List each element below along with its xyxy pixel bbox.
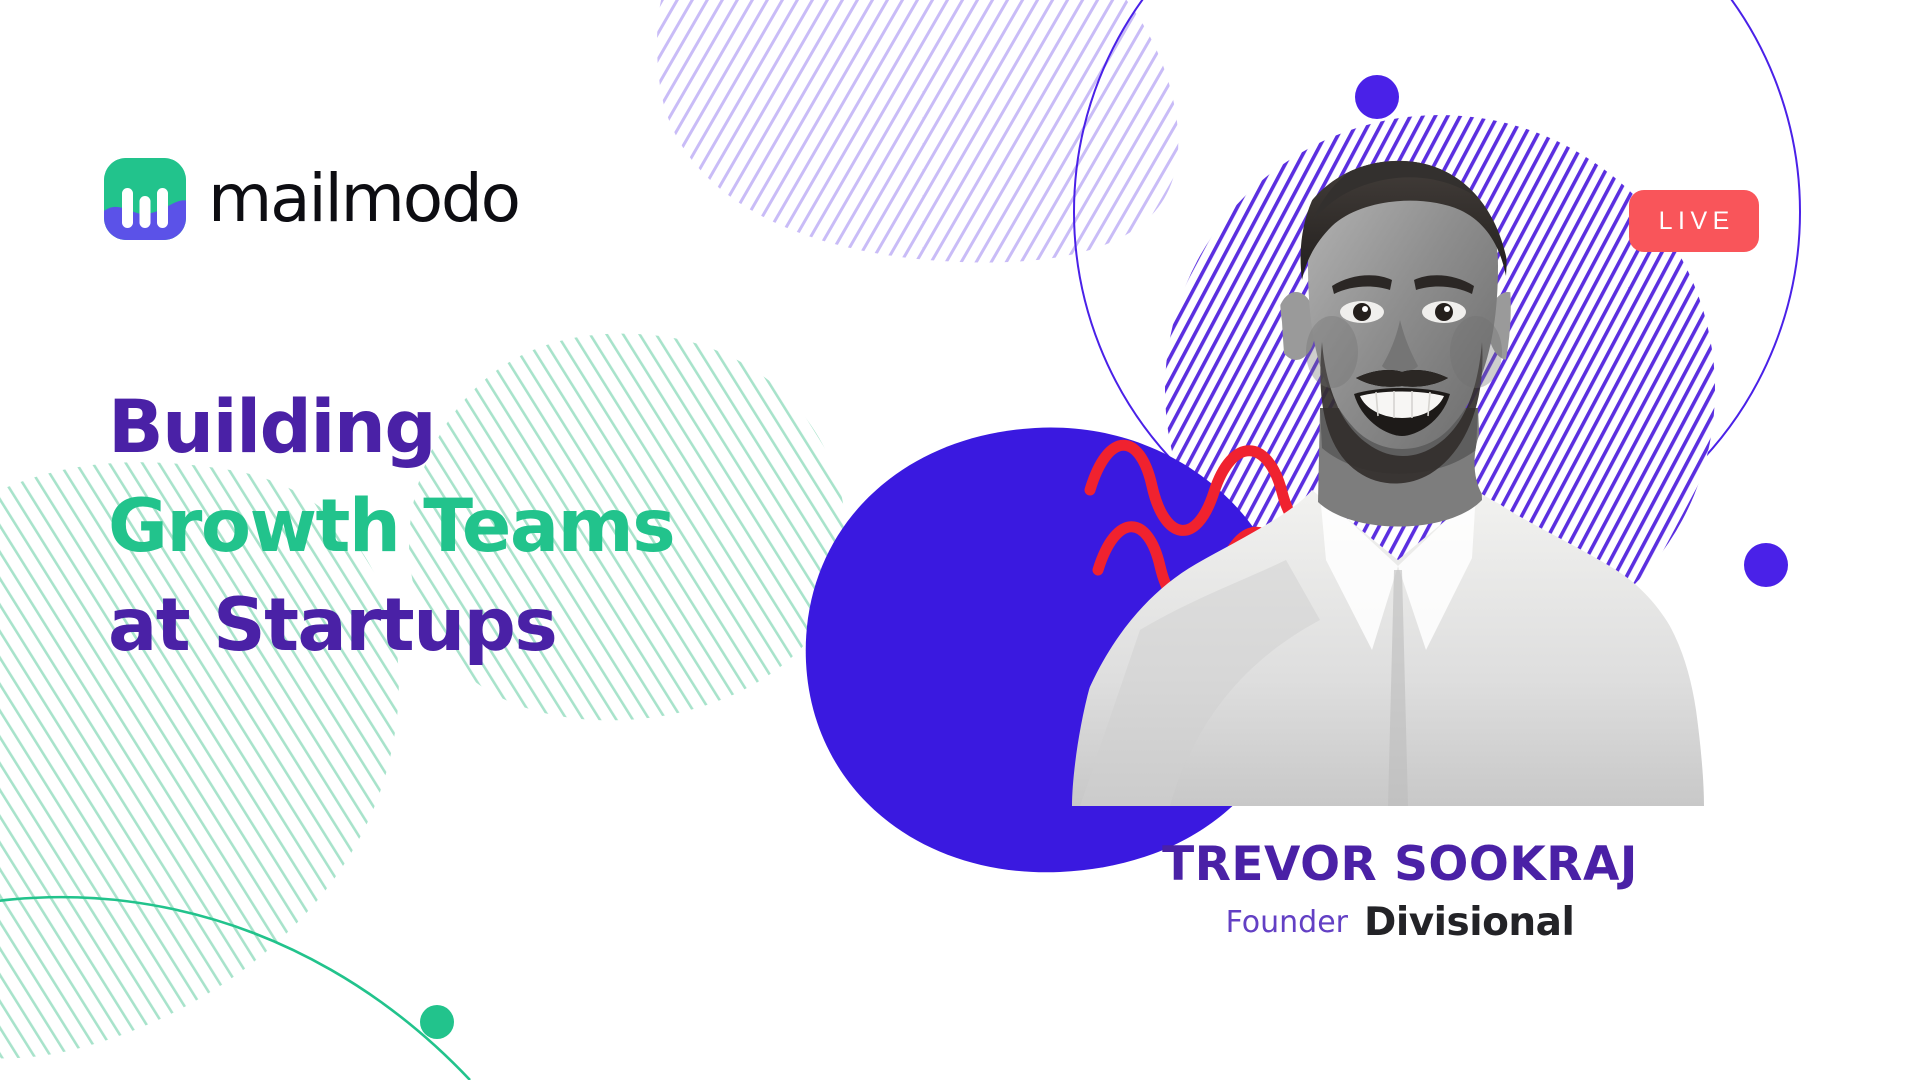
live-badge: LIVE (1629, 190, 1759, 252)
speaker-role: Founder (1226, 908, 1348, 938)
mailmodo-logo-mark (104, 158, 186, 240)
brand-wordmark: mailmodo (208, 166, 519, 232)
speaker-role-row: Founder Divisional (1030, 903, 1770, 942)
green-arc-line (0, 897, 470, 1080)
live-badge-label: LIVE (1653, 207, 1735, 236)
headline-line-3: at Startups (108, 576, 868, 675)
speaker-info: TREVOR SOOKRAJ Founder Divisional (1030, 840, 1770, 942)
speaker-name: TREVOR SOOKRAJ (1030, 840, 1770, 889)
green-dot (420, 1005, 454, 1039)
brand-logo[interactable]: mailmodo (104, 158, 519, 240)
headline: Building Growth Teams at Startups (108, 378, 868, 675)
headline-line-1: Building (108, 378, 868, 477)
purple-dot-right (1744, 543, 1788, 587)
headline-line-2: Growth Teams (108, 477, 868, 576)
webinar-banner: mailmodo Building Growth Teams at Startu… (0, 0, 1920, 1080)
divisional-logo: Divisional (1364, 903, 1574, 942)
